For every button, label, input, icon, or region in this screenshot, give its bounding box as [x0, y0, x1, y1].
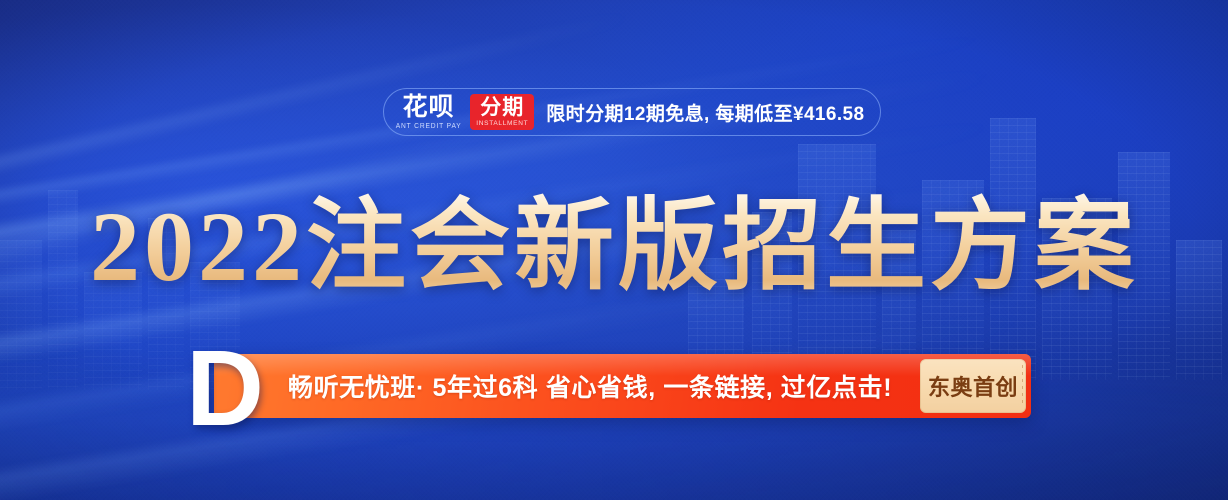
installment-badge-cn: 分期: [480, 97, 524, 119]
promo-banner: 花呗 ANT CREDIT PAY 分期 INSTALLMENT 限时分期12期…: [0, 0, 1228, 500]
cta-bar-background[interactable]: 畅听无忧班· 5年过6科 省心省钱, 一条链接, 过亿点击! 东奥首创: [214, 354, 1031, 418]
cta-bar[interactable]: 畅听无忧班· 5年过6科 省心省钱, 一条链接, 过亿点击! 东奥首创 D: [186, 352, 1031, 420]
huabei-logo: 花呗 ANT CREDIT PAY: [394, 94, 463, 130]
installment-badge: 分期 INSTALLMENT: [470, 94, 534, 130]
installment-badge-en: INSTALLMENT: [476, 121, 528, 128]
headline-title: 2022注会新版招生方案: [0, 188, 1228, 306]
cta-bar-badge: 东奥首创: [920, 359, 1026, 413]
huabei-logo-en: ANT CREDIT PAY: [396, 123, 462, 130]
installment-promo-pill[interactable]: 花呗 ANT CREDIT PAY 分期 INSTALLMENT 限时分期12期…: [383, 88, 881, 136]
cta-bar-text: 畅听无忧班· 5年过6科 省心省钱, 一条链接, 过亿点击!: [288, 368, 892, 404]
installment-promo-text: 限时分期12期免息, 每期低至¥416.58: [546, 99, 864, 126]
huabei-logo-cn: 花呗: [403, 94, 455, 120]
brand-letter-d: D: [186, 338, 264, 438]
